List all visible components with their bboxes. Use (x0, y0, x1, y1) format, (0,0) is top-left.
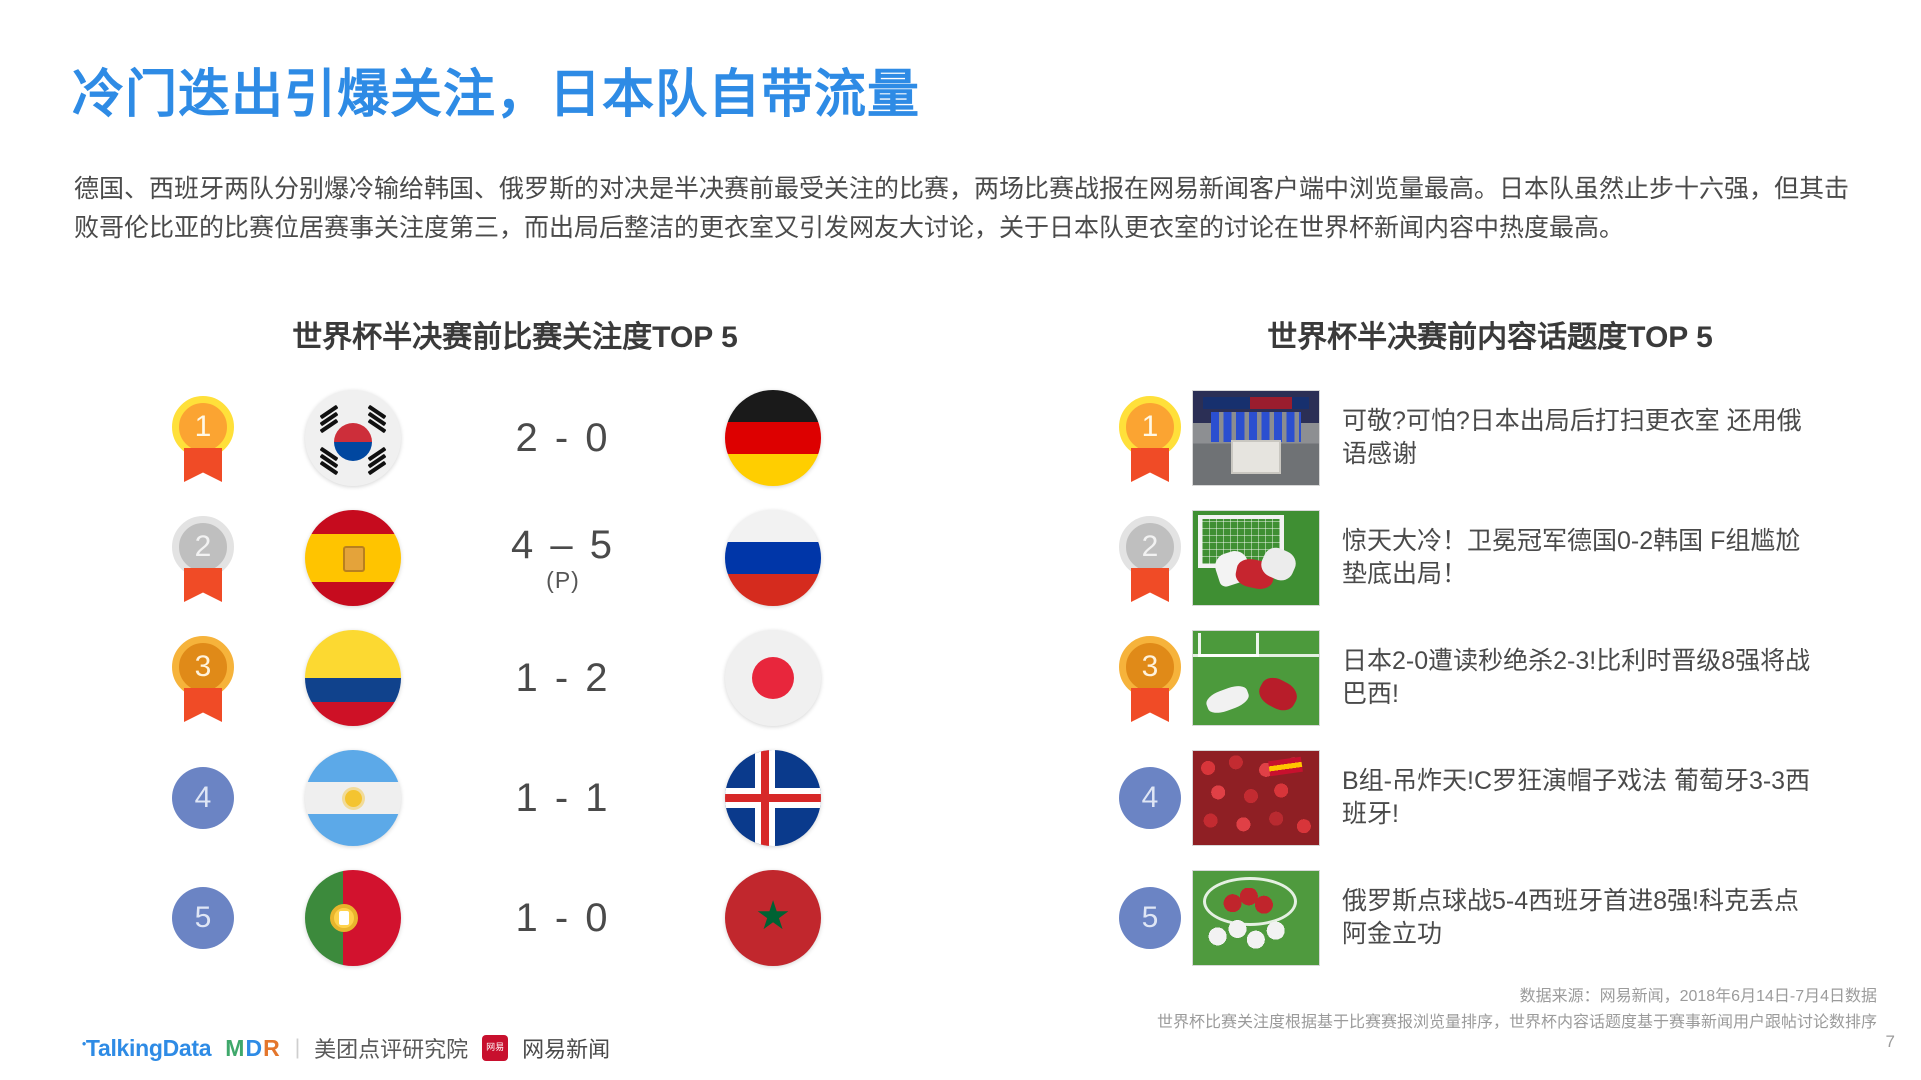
home-flag-cell (258, 510, 448, 606)
away-flag-cell (678, 750, 868, 846)
topic-thumbnail[interactable] (1192, 510, 1320, 606)
flag-colombia-icon (305, 630, 401, 726)
match-row: 5 1 - 0 ★ (148, 858, 938, 978)
match-row: 1 (148, 378, 938, 498)
topic-headline[interactable]: B组-吊炸天!C罗狂演帽子戏法 葡萄牙3-3西班牙! (1342, 765, 1822, 832)
topic-row[interactable]: 5 俄罗斯点球战5-4西班牙首进8强!科克丢点阿金立功 (1108, 858, 1898, 978)
talkingdata-logo: •TalkingData (82, 1035, 211, 1062)
flag-morocco-icon: ★ (725, 870, 821, 966)
netease-news-label: 网易新闻 (522, 1032, 610, 1064)
source-line-1: 数据来源：网易新闻，2018年6月14日-7月4日数据 (1157, 984, 1877, 1010)
mdr-logo: MDR (225, 1035, 280, 1062)
source-note: 数据来源：网易新闻，2018年6月14日-7月4日数据 世界杯比赛关注度根据基于… (1157, 984, 1877, 1035)
flag-portugal-icon (305, 870, 401, 966)
medal-silver-icon: 2 (1119, 516, 1181, 600)
match-list: 1 (148, 378, 938, 978)
topic-row[interactable]: 2 惊天大冷！卫冕冠军德国0-2韩国 F组尴尬垫底出局！ (1108, 498, 1898, 618)
score-text: 2 - 0 (515, 416, 610, 460)
rank-badge: 4 (172, 767, 234, 829)
home-flag-cell (258, 630, 448, 726)
home-flag-cell (258, 390, 448, 486)
home-flag-cell (258, 750, 448, 846)
flag-germany-icon (725, 390, 821, 486)
right-panel-heading: 世界杯半决赛前内容话题度TOP 5 (1110, 312, 1870, 356)
match-score: 1 - 1 (448, 776, 678, 821)
medal-gold-icon: 1 (1119, 396, 1181, 480)
flag-south-korea-icon (305, 390, 401, 486)
topic-thumbnail[interactable] (1192, 390, 1320, 486)
medal-ribbon-icon (1131, 688, 1169, 722)
match-row: 2 4 – 5 (P) (148, 498, 938, 618)
flag-russia-icon (725, 510, 821, 606)
rank-cell: 1 (1108, 396, 1192, 480)
score-text: 4 – 5 (511, 523, 615, 567)
topic-headline[interactable]: 日本2-0遭读秒绝杀2-3!比利时晋级8强将战巴西! (1342, 645, 1822, 712)
meituan-research-label: 美团点评研究院 (314, 1032, 468, 1064)
source-line-2: 世界杯比赛关注度根据基于比赛赛报浏览量排序，世界杯内容话题度基于赛事新闻用户跟帖… (1157, 1010, 1877, 1036)
left-panel-heading: 世界杯半决赛前比赛关注度TOP 5 (190, 312, 840, 356)
medal-bronze-icon: 3 (1119, 636, 1181, 720)
match-score: 2 - 0 (448, 416, 678, 461)
away-flag-cell: ★ (678, 870, 868, 966)
away-flag-cell (678, 510, 868, 606)
match-row: 3 1 - 2 (148, 618, 938, 738)
topic-row[interactable]: 3 日本2-0遭读秒绝杀2-3!比利时晋级8强将战巴西! (1108, 618, 1898, 738)
page-title: 冷门迭出引爆关注，日本队自带流量 (72, 52, 920, 127)
rank-cell: 5 (148, 887, 258, 949)
home-flag-cell (258, 870, 448, 966)
score-text: 1 - 1 (515, 776, 610, 820)
rank-cell: 4 (148, 767, 258, 829)
netease-logo-icon: 网易 (482, 1035, 508, 1061)
medal-silver-icon: 2 (172, 516, 234, 600)
medal-ribbon-icon (184, 448, 222, 482)
rank-cell: 1 (148, 396, 258, 480)
rank-cell: 2 (1108, 516, 1192, 600)
topic-thumbnail[interactable] (1192, 630, 1320, 726)
score-note: (P) (448, 568, 678, 594)
flag-japan-icon (725, 630, 821, 726)
medal-ribbon-icon (184, 688, 222, 722)
rank-cell: 4 (1108, 767, 1192, 829)
topic-headline[interactable]: 可敬?可怕?日本出局后打扫更衣室 还用俄语感谢 (1342, 405, 1822, 472)
rank-cell: 3 (1108, 636, 1192, 720)
topic-headline[interactable]: 俄罗斯点球战5-4西班牙首进8强!科克丢点阿金立功 (1342, 885, 1822, 952)
away-flag-cell (678, 390, 868, 486)
match-score: 1 - 0 (448, 896, 678, 941)
match-score: 1 - 2 (448, 656, 678, 701)
rank-badge: 4 (1119, 767, 1181, 829)
flag-iceland-icon (725, 750, 821, 846)
rank-badge: 5 (1119, 887, 1181, 949)
topic-headline[interactable]: 惊天大冷！卫冕冠军德国0-2韩国 F组尴尬垫底出局！ (1342, 525, 1822, 592)
flag-argentina-icon (305, 750, 401, 846)
score-text: 1 - 2 (515, 656, 610, 700)
lede-paragraph: 德国、西班牙两队分别爆冷输给韩国、俄罗斯的对决是半决赛前最受关注的比赛，两场比赛… (74, 170, 1864, 248)
brand-divider: | (295, 1036, 300, 1060)
rank-cell: 5 (1108, 887, 1192, 949)
match-score: 4 – 5 (P) (448, 523, 678, 594)
rank-cell: 2 (148, 516, 258, 600)
topic-thumbnail[interactable] (1192, 750, 1320, 846)
topic-row[interactable]: 1 可敬?可怕?日本出局后打扫更衣室 还用俄语感谢 (1108, 378, 1898, 498)
rank-cell: 3 (148, 636, 258, 720)
topic-thumbnail[interactable] (1192, 870, 1320, 966)
medal-ribbon-icon (1131, 568, 1169, 602)
medal-ribbon-icon (184, 568, 222, 602)
page-number: 7 (1886, 1032, 1895, 1052)
topic-row[interactable]: 4 B组-吊炸天!C罗狂演帽子戏法 葡萄牙3-3西班牙! (1108, 738, 1898, 858)
score-text: 1 - 0 (515, 896, 610, 940)
brand-bar: •TalkingData MDR | 美团点评研究院 网易 网易新闻 (82, 1032, 610, 1064)
medal-gold-icon: 1 (172, 396, 234, 480)
medal-bronze-icon: 3 (172, 636, 234, 720)
away-flag-cell (678, 630, 868, 726)
topic-list: 1 可敬?可怕?日本出局后打扫更衣室 还用俄语感谢 2 惊天大冷！卫冕冠军德国0… (1108, 378, 1898, 978)
slide-root: 冷门迭出引爆关注，日本队自带流量 德国、西班牙两队分别爆冷输给韩国、俄罗斯的对决… (0, 0, 1921, 1080)
match-row: 4 1 - 1 (148, 738, 938, 858)
medal-ribbon-icon (1131, 448, 1169, 482)
flag-spain-icon (305, 510, 401, 606)
rank-badge: 5 (172, 887, 234, 949)
